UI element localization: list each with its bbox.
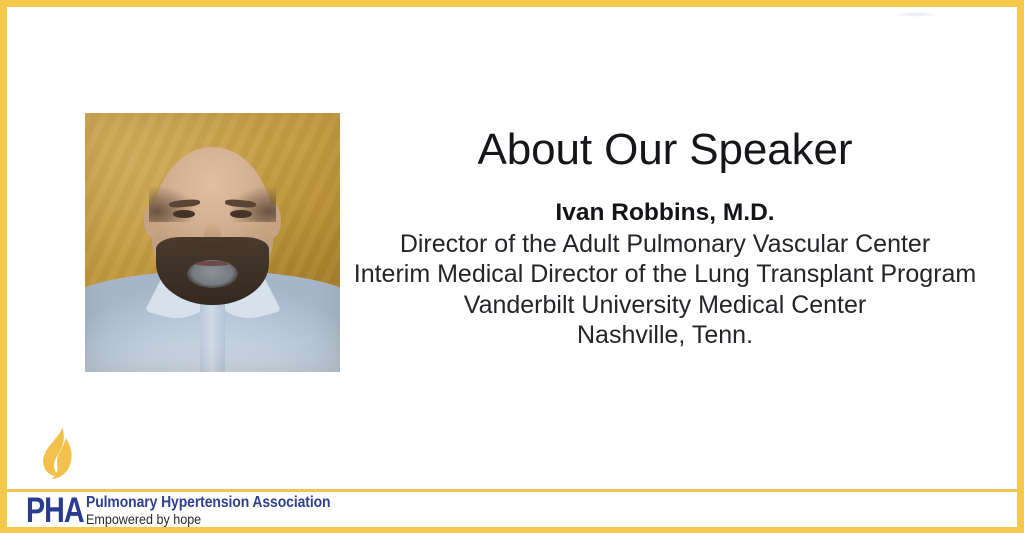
speaker-name: Ivan Robbins, M.D. (352, 198, 978, 229)
pha-tagline: Empowered by hope (86, 512, 201, 528)
speaker-photo (85, 113, 340, 372)
pha-logo: PHA Pulmonary Hypertension Association E… (26, 426, 306, 530)
speaker-location-line: Nashville, Tenn. (352, 320, 978, 351)
slide-border-top (0, 0, 1024, 7)
flame-icon (32, 426, 78, 492)
presentation-slide: About Our Speaker Ivan Robbins, M.D. Dir… (0, 0, 1024, 533)
speaker-details: Ivan Robbins, M.D. Director of the Adult… (352, 198, 978, 351)
page-title: About Our Speaker (360, 122, 970, 178)
compression-artifact (893, 12, 939, 17)
photo-vignette (85, 113, 340, 372)
slide-border-right (1017, 0, 1024, 533)
pha-acronym: PHA (26, 493, 75, 529)
pha-organization-name: Pulmonary Hypertension Association (86, 494, 330, 512)
slide-border-left (0, 0, 7, 533)
speaker-affiliation-line: Vanderbilt University Medical Center (352, 290, 978, 321)
speaker-role-line: Interim Medical Director of the Lung Tra… (352, 259, 978, 290)
speaker-role-line: Director of the Adult Pulmonary Vascular… (352, 229, 978, 260)
